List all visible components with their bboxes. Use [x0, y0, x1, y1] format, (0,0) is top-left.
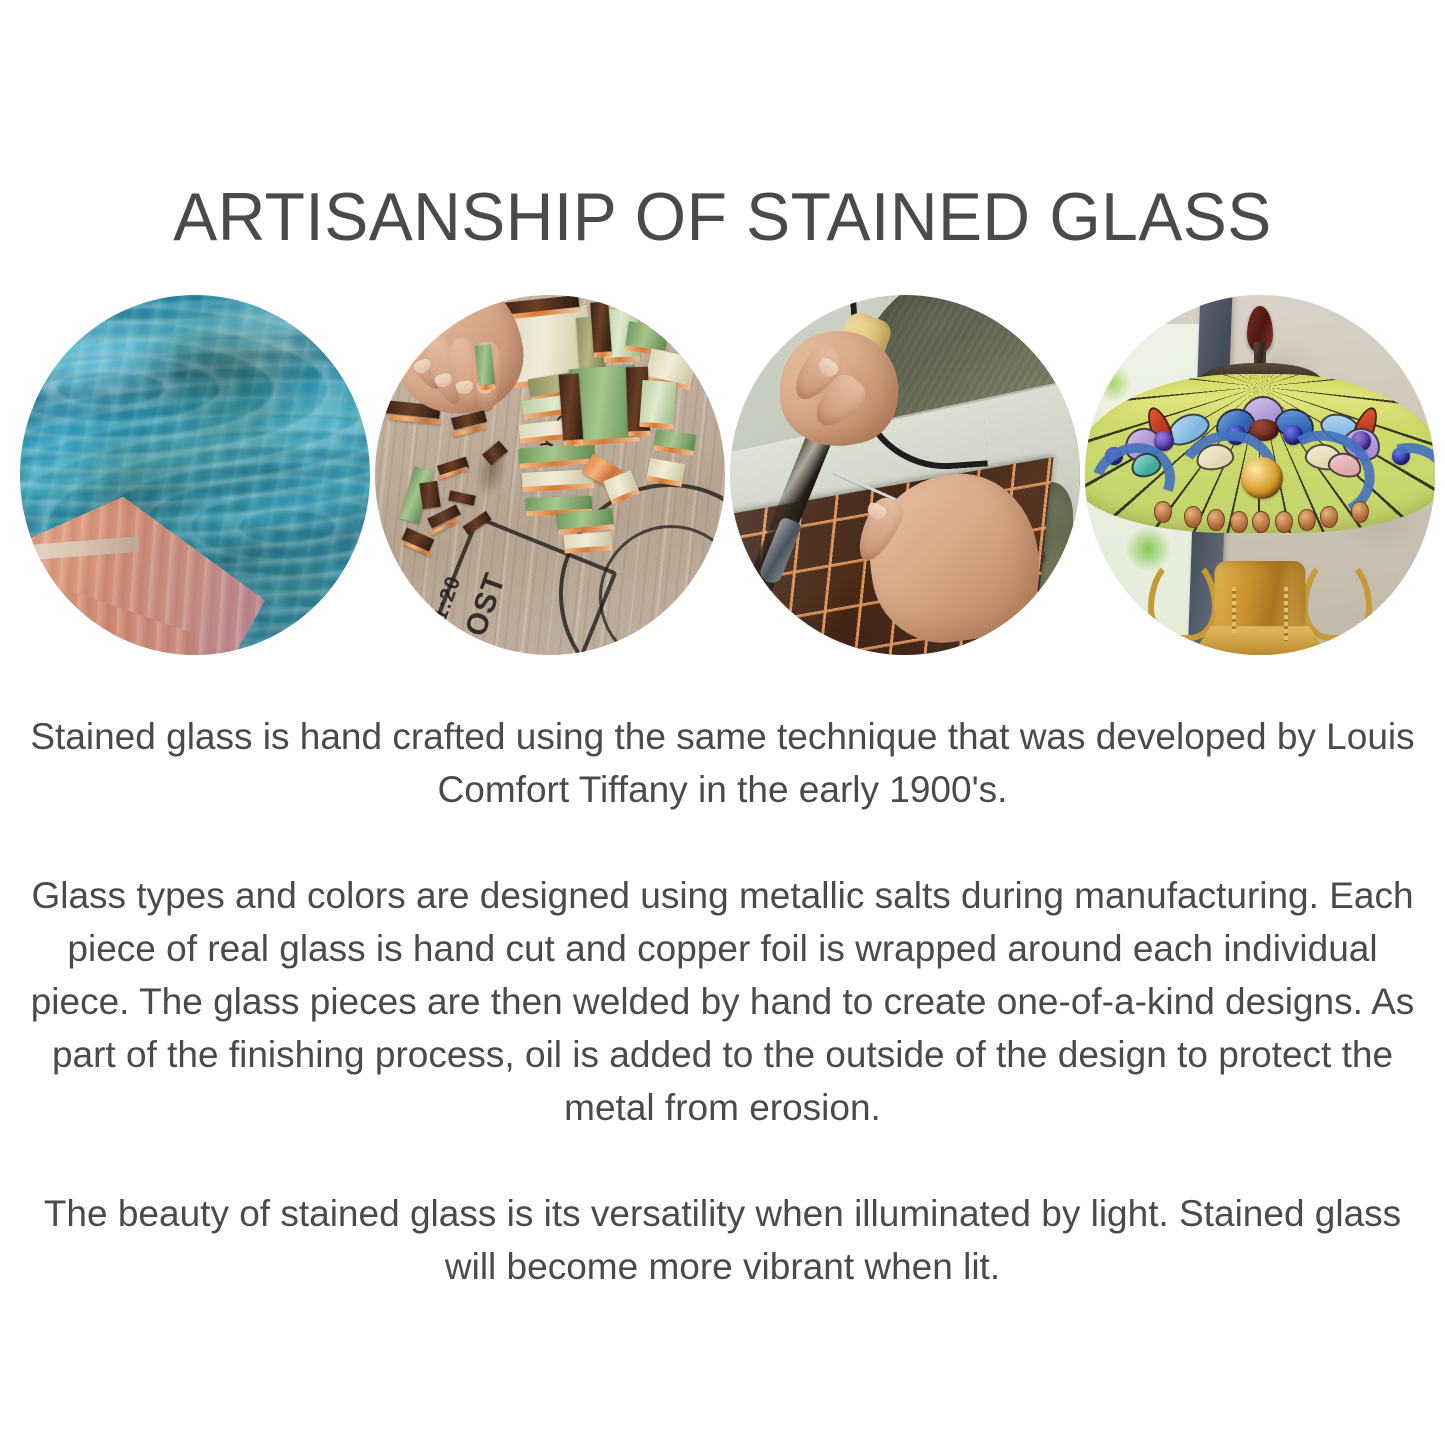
stained-glass-shade [1085, 374, 1435, 532]
page-title: ARTISANSHIP OF STAINED GLASS [22, 178, 1424, 256]
lamp-pull-chain-left[interactable] [1232, 587, 1236, 633]
glass-scrap [419, 481, 440, 509]
paragraph-intro: Stained glass is hand crafted using the … [16, 710, 1429, 816]
gallery-image-tiffany-lamp [1085, 295, 1435, 655]
foiled-glass-piece [590, 302, 612, 355]
shade-skirt-bead [1154, 501, 1172, 523]
gallery-image-copper-foiling: T Y · S U P E R Q U 001:20 OST [375, 295, 725, 655]
shade-skirt-bead [1184, 506, 1202, 528]
paragraph-spacer [16, 1134, 1429, 1187]
shade-skirt-bead [1351, 501, 1369, 523]
gallery-image-soldering [730, 295, 1080, 655]
image-gallery: T Y · S U P E R Q U 001:20 OST [20, 295, 1435, 655]
foiled-glass-piece [625, 321, 668, 352]
paragraph-conclusion: The beauty of stained glass is its versa… [16, 1187, 1429, 1293]
glass-sheet-scene [20, 295, 370, 655]
paragraph-process: Glass types and colors are designed usin… [16, 869, 1429, 1134]
lamp-pull-chain-right[interactable] [1284, 587, 1288, 641]
foiled-glass-piece [564, 531, 613, 550]
soldering-scene [730, 295, 1080, 655]
infographic-page: ARTISANSHIP OF STAINED GLASS T [0, 0, 1445, 1445]
paragraph-spacer [16, 816, 1429, 869]
shade-skirt-bead [1298, 509, 1316, 531]
foiled-glass-piece [640, 380, 677, 426]
tiffany-lamp-scene [1085, 295, 1435, 655]
body-copy: Stained glass is hand crafted using the … [16, 710, 1429, 1293]
copper-foiling-scene: T Y · S U P E R Q U 001:20 OST [375, 295, 725, 655]
foiled-glass-piece [558, 374, 583, 443]
shade-skirt-bead [1207, 509, 1225, 531]
gallery-image-glass-sheet [20, 295, 370, 655]
foiled-glass-piece [518, 444, 595, 466]
foiled-glass-piece [525, 495, 591, 512]
shade-skirt-bead [1230, 511, 1248, 533]
